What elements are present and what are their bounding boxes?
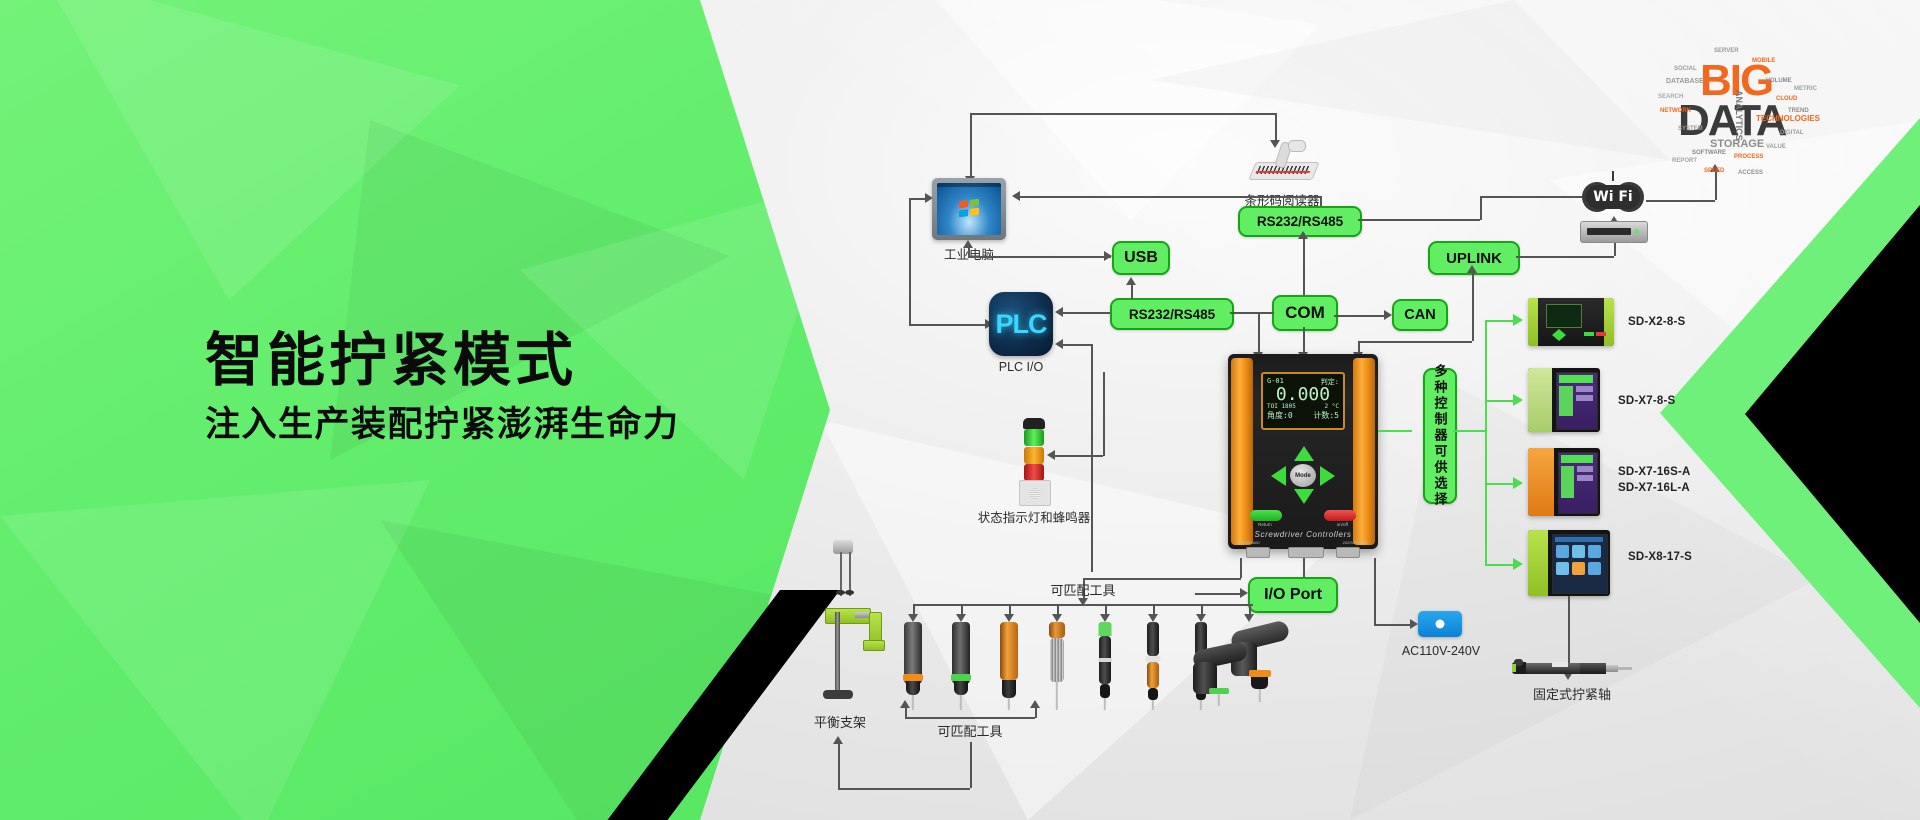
page-title: 智能拧紧模式 xyxy=(205,330,680,391)
return-button-label: Return xyxy=(1258,522,1272,527)
controller-serial: S/N:005A00 xyxy=(1238,540,1260,545)
link-com-rs232top xyxy=(1303,233,1305,295)
green-branch-m2 xyxy=(1485,400,1513,402)
link-pcleft-v xyxy=(909,198,911,324)
link-plc-bottom-h xyxy=(1063,344,1091,346)
link-uplink-right xyxy=(1516,256,1614,258)
controller-brand: Screwdriver Controllers xyxy=(1228,530,1378,539)
link-stacklight-v xyxy=(1103,372,1105,456)
arrow-io-left xyxy=(1240,588,1248,598)
port-can[interactable]: CAN xyxy=(1392,299,1448,331)
device-label-sd-x7-8-s: SD-X7-8-S xyxy=(1618,395,1675,407)
dpad-up-icon[interactable] xyxy=(1294,446,1314,461)
link-usb-pc xyxy=(968,256,1111,258)
arrow-ctrl-pwr xyxy=(1410,619,1418,629)
arrow-stacklight xyxy=(1047,450,1055,460)
link-com-leftbranch-h xyxy=(1258,312,1274,314)
device-sd-x8-17-s xyxy=(1528,530,1610,596)
industrial-pc-icon xyxy=(932,178,1006,240)
link-pcleft-h xyxy=(909,198,925,200)
lcd-model: TOI 1805 xyxy=(1267,403,1296,410)
lcd-angle: 角度:0 xyxy=(1267,410,1293,421)
green-branch-m3 xyxy=(1485,483,1513,485)
tools-bracket-arrow-1 xyxy=(900,700,910,708)
power-button[interactable] xyxy=(1324,510,1356,521)
controller-variants-note[interactable]: 多种控制器可供选择 xyxy=(1423,368,1457,504)
arrow-plc-bottom xyxy=(1055,339,1063,349)
link-stacklight-h xyxy=(1055,455,1103,457)
screwdriver-controller: G-01 判定: 0.000 TOI 1805 2 °C 角度:0 计数:5 M… xyxy=(1228,354,1378,549)
lcd-value: 0.000 xyxy=(1267,386,1339,404)
tool-arrow-2 xyxy=(956,614,966,622)
balance-bracket-icon xyxy=(795,540,885,710)
link-rs232top-right xyxy=(1358,219,1480,221)
link-wifi-bigdata xyxy=(1646,200,1715,202)
port-rs232-left[interactable]: RS232/RS485 xyxy=(1110,298,1234,330)
page-subtitle: 注入生产装配拧紧澎湃生命力 xyxy=(205,405,680,445)
arrow-usb-to-pc xyxy=(963,240,973,248)
device-label-sd-x8-17-s: SD-X8-17-S xyxy=(1628,551,1692,563)
tool-screwdriver-3 xyxy=(997,622,1021,710)
wifi-icon: Wi Fi xyxy=(1582,178,1644,218)
plc-tile-label: PLC xyxy=(996,309,1047,340)
lcd-temp: 2 °C xyxy=(1325,403,1339,410)
stack-light-icon xyxy=(1019,418,1049,504)
return-button[interactable] xyxy=(1250,510,1282,521)
controller-version: 2020V03.1W2 xyxy=(1343,540,1368,545)
green-branch-out xyxy=(1378,430,1412,432)
link-com-leftbranch-v xyxy=(1258,312,1260,354)
plc-label: PLC I/O xyxy=(981,360,1061,374)
tools-bracket-arrow-2 xyxy=(1030,700,1040,708)
green-arrow-m3 xyxy=(1513,477,1523,489)
device-label-sd-x7-16l-a: SD-X7-16L-A xyxy=(1618,482,1690,494)
dpad-right-icon[interactable] xyxy=(1320,466,1335,486)
green-arrow-m2 xyxy=(1513,394,1523,406)
power-supply-icon xyxy=(1418,611,1462,637)
arrow-com-can xyxy=(1384,310,1392,320)
green-arrow-m4 xyxy=(1513,558,1523,570)
barcode-reader-icon xyxy=(1248,140,1318,184)
link-plc-bottom-v xyxy=(1091,344,1093,572)
device-label-sd-x7-16s-a: SD-X7-16S-A xyxy=(1618,466,1691,478)
arrow-rs232-usb xyxy=(1126,277,1136,285)
port-io[interactable]: I/O Port xyxy=(1248,577,1338,613)
tool-screwdriver-6 xyxy=(1141,622,1165,710)
tool-arrow-5 xyxy=(1100,614,1110,622)
link-ctrl-pwr-h xyxy=(1374,624,1410,626)
lcd-count: 计数:5 xyxy=(1313,410,1339,421)
tool-arrow-4 xyxy=(1052,614,1062,622)
mode-button[interactable]: Mode xyxy=(1290,464,1316,487)
balance-bracket-label: 平衡支架 xyxy=(790,712,890,731)
tool-screwdriver-4 xyxy=(1045,622,1069,710)
device-sd-x7-16 xyxy=(1528,448,1600,516)
big-data-wordcloud: BIG DATA ANALYTICS STORAGE TECHNOLOGIES … xyxy=(1648,38,1848,188)
link-com-can xyxy=(1334,315,1384,317)
link-rs232top-up xyxy=(1480,196,1482,220)
arrow-rs232-top xyxy=(1298,231,1308,239)
balance-link-arrow xyxy=(833,736,843,744)
port-com[interactable]: COM xyxy=(1272,295,1338,331)
link-plc-in-h xyxy=(909,324,985,326)
green-branch-spine xyxy=(1485,320,1487,564)
port-usb[interactable]: USB xyxy=(1112,241,1170,275)
hero-text-block: 智能拧紧模式 注入生产装配拧紧澎湃生命力 xyxy=(205,330,680,445)
plc-icon: PLC xyxy=(989,292,1053,356)
banner-stage: 智能拧紧模式 注入生产装配拧紧澎湃生命力 条形码阅读器 工业电脑 USB RS2… xyxy=(0,0,1920,820)
link-pc-right-h xyxy=(1020,196,1320,198)
balance-link-v xyxy=(838,742,840,788)
tool-screwdriver-2 xyxy=(949,622,973,710)
balance-link-h xyxy=(838,788,970,790)
green-branch-in xyxy=(1453,430,1485,432)
tool-pistol-2 xyxy=(1185,640,1255,720)
green-branch-m1 xyxy=(1485,320,1513,322)
arrow-pc-left xyxy=(925,193,933,203)
tool-screwdriver-1 xyxy=(901,622,925,710)
power-supply-label: AC110V-240V xyxy=(1382,644,1500,658)
green-arrow-m1 xyxy=(1513,314,1523,326)
link-rs232left-usb-v xyxy=(1131,283,1133,299)
tool-arrow-3 xyxy=(1004,614,1014,622)
link-rs232left-plc xyxy=(1063,312,1110,314)
wifi-label: Wi Fi xyxy=(1593,189,1632,205)
tool-screwdriver-5 xyxy=(1093,622,1117,710)
arrow-can-uplink xyxy=(1467,265,1477,273)
tool-arrow-7 xyxy=(1196,614,1206,622)
controller-lcd: G-01 判定: 0.000 TOI 1805 2 °C 角度:0 计数:5 xyxy=(1261,372,1345,430)
tool-arrow-6 xyxy=(1148,614,1158,622)
controller-dpad[interactable]: Mode xyxy=(1271,446,1335,504)
link-ctrl-pwr-v xyxy=(1374,558,1376,624)
link-barcode-drop xyxy=(1275,113,1277,140)
dpad-left-icon[interactable] xyxy=(1271,466,1286,486)
link-pc-top-drop xyxy=(970,113,972,176)
dpad-down-icon[interactable] xyxy=(1294,489,1314,504)
arrow-pc-right xyxy=(1012,191,1020,201)
fixed-spindle-icon xyxy=(1512,656,1632,682)
router-icon xyxy=(1580,221,1648,243)
tools-label-top: 可匹配工具 xyxy=(1013,580,1153,599)
link-can-ctrl-h xyxy=(1358,341,1472,343)
arrow-to-usb xyxy=(1104,251,1112,261)
link-ctrl-tools-v xyxy=(1240,558,1242,578)
green-branch-m4 xyxy=(1485,564,1513,566)
link-com-ctrl xyxy=(1303,327,1305,354)
tools-bracket-h xyxy=(905,717,1035,719)
link-can-up xyxy=(1472,271,1474,341)
tools-bracket-down xyxy=(970,742,972,788)
fixed-spindle-label: 固定式拧紧轴 xyxy=(1512,684,1632,703)
device-sd-x2-8-s xyxy=(1528,298,1614,346)
link-io-left xyxy=(1195,593,1240,595)
arrow-rs232-plc xyxy=(1055,307,1063,317)
tool-arrow-1 xyxy=(908,614,918,622)
stack-light-label: 状态指示灯和蜂鸣器 xyxy=(964,507,1104,526)
tool-arrow-8 xyxy=(1244,614,1254,622)
link-pc-barcode-top xyxy=(970,113,1275,115)
device-label-sd-x2-8-s: SD-X2-8-S xyxy=(1628,316,1685,328)
device-sd-x7-8-s xyxy=(1528,368,1600,432)
tools-label-bottom: 可匹配工具 xyxy=(900,721,1040,740)
power-button-label: on/off xyxy=(1337,522,1348,527)
